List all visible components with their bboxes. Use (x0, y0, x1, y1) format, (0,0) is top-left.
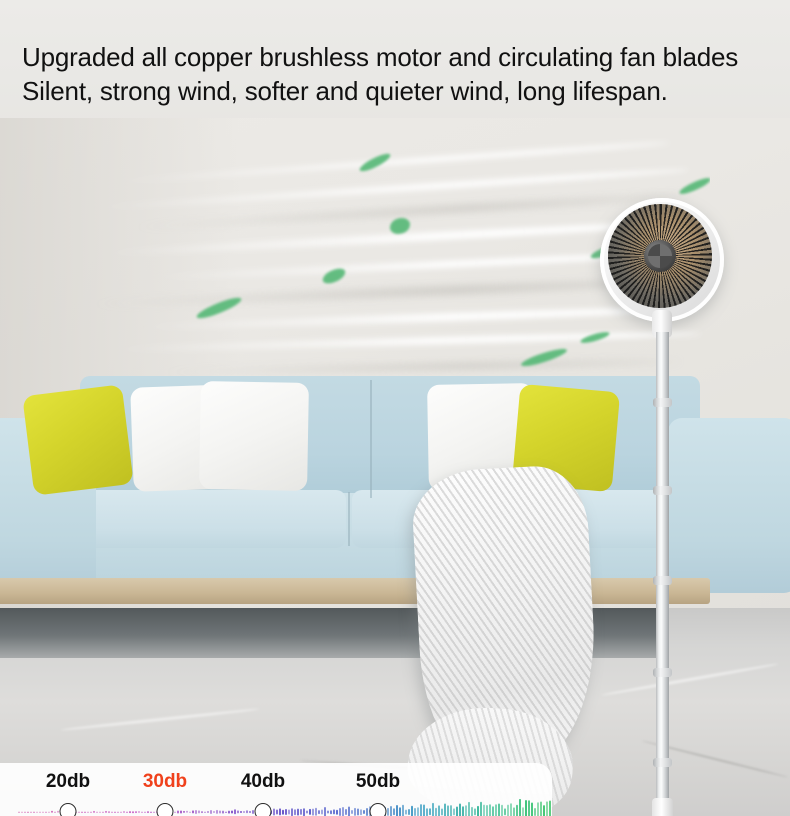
waveform-bar (492, 807, 494, 816)
waveform-bar (516, 804, 518, 816)
pole-joint (653, 398, 672, 407)
waveform-bar (540, 802, 542, 816)
waveform-bar (243, 811, 245, 813)
waveform-bar (186, 811, 188, 813)
waveform-bar (93, 811, 95, 813)
waveform-bar (330, 810, 332, 814)
waveform-bar (480, 802, 482, 816)
waveform-bar (231, 811, 233, 814)
waveform-bar (402, 805, 404, 816)
waveform-bar (87, 811, 89, 812)
waveform-bar (246, 811, 248, 814)
waveform-bar (177, 811, 179, 814)
waveform-bar (354, 808, 356, 816)
waveform-bar (282, 809, 284, 814)
waveform-bar (225, 811, 227, 813)
waveform-bar (318, 810, 320, 814)
waveform-bar (441, 809, 443, 816)
waveform-bar (411, 806, 413, 816)
waveform-bar (99, 811, 101, 812)
pole-foot (652, 798, 673, 816)
product-marketing-image: Upgraded all copper brushless motor and … (0, 0, 790, 816)
waveform-bar (33, 811, 35, 812)
waveform-bar (198, 811, 200, 814)
waveform-bar (309, 809, 311, 815)
waveform-bar (522, 807, 524, 816)
waveform-bar (27, 811, 29, 812)
waveform-bar (315, 808, 317, 816)
waveform-bar (417, 808, 419, 816)
product-scene: 20db30db40db50db Falling leavesvoiceLoca… (0, 118, 790, 816)
waveform-bar (183, 811, 185, 813)
pole-joint (653, 576, 672, 585)
waveform-bar (531, 802, 533, 816)
waveform-bar (363, 810, 365, 814)
waveform-bar (129, 811, 131, 813)
waveform-bar (216, 810, 218, 814)
pole-joint (653, 668, 672, 677)
waveform-bar (468, 802, 470, 816)
waveform-bar (24, 811, 26, 812)
waveform-bar (495, 804, 497, 816)
waveform-bar (249, 811, 251, 813)
waveform-bar (477, 806, 479, 816)
waveform-bar (351, 810, 353, 814)
waveform-bar (426, 808, 428, 816)
waveform-bar (483, 804, 485, 816)
waveform-bar (303, 808, 305, 816)
waveform-marker-50db (370, 803, 387, 816)
waveform-bar (501, 804, 503, 816)
headline-line-1: Upgraded all copper brushless motor and … (22, 40, 790, 74)
waveform-bar (300, 809, 302, 815)
waveform-bar (21, 811, 23, 812)
waveform-bar (444, 804, 446, 816)
waveform-bar (537, 802, 539, 816)
waveform-bar (42, 811, 44, 812)
noise-level-panel: 20db30db40db50db Falling leavesvoiceLoca… (0, 763, 552, 816)
waveform-bar (387, 808, 389, 816)
waveform-bar (195, 810, 197, 814)
waveform-bar (327, 810, 329, 813)
pole-joint (653, 758, 672, 767)
waveform-bar (45, 811, 47, 812)
waveform-bar (222, 810, 224, 813)
waveform-bar (207, 811, 209, 813)
waveform-bar (153, 811, 155, 812)
waveform-bar (486, 805, 488, 816)
waveform-bar (507, 804, 509, 816)
waveform-bar (339, 808, 341, 816)
waveform-bar (48, 811, 50, 812)
waveform-bar (513, 808, 515, 816)
waveform-bar (90, 811, 92, 812)
waveform-bar (180, 811, 182, 814)
headline-line-2: Silent, strong wind, softer and quieter … (22, 74, 790, 108)
db-label-row: 20db30db40db50db (0, 771, 430, 797)
waveform-bar (510, 803, 512, 816)
fan-outer-band (600, 198, 724, 322)
green-leaf-icon (390, 218, 410, 234)
green-leaf-icon (678, 176, 710, 196)
waveform-bar (273, 809, 275, 816)
waveform-bar (189, 811, 191, 812)
waveform-bar (54, 811, 56, 812)
waveform-bar (39, 811, 41, 812)
waveform-bar (108, 811, 110, 813)
waveform-bar (399, 808, 401, 816)
waveform-bar (276, 810, 278, 815)
waveform-bar (321, 809, 323, 814)
db-label-20db: 20db (46, 771, 90, 793)
waveform-bar (105, 811, 107, 813)
waveform-bar (96, 811, 98, 812)
db-label-50db: 50db (356, 771, 400, 793)
waveform-bar (285, 809, 287, 815)
waveform-bar (36, 811, 38, 812)
waveform-bar (456, 806, 458, 816)
standing-fan (596, 198, 790, 816)
waveform-bar (84, 811, 86, 812)
waveform-bar (474, 809, 476, 816)
waveform-bar (393, 809, 395, 816)
waveform-marker-30db (157, 803, 174, 816)
waveform-bar (174, 811, 176, 812)
waveform-bar (102, 811, 104, 812)
waveform-bar (333, 810, 335, 815)
waveform-bar (390, 806, 392, 816)
waveform-bar (525, 800, 527, 816)
waveform-bar (357, 808, 359, 815)
waveform-marker-40db (255, 803, 272, 816)
waveform-bar (192, 811, 194, 814)
waveform-bar (408, 809, 410, 815)
waveform-bar (150, 811, 152, 812)
waveform-bar (135, 811, 137, 813)
waveform-bar (435, 807, 437, 816)
waveform-bar (117, 811, 119, 812)
waveform-bar (147, 811, 149, 813)
waveform-bar (504, 809, 506, 816)
waveform-bar (432, 803, 434, 816)
pillow-white-2 (199, 381, 309, 491)
waveform-bar (141, 811, 143, 813)
waveform-bar (240, 811, 242, 813)
waveform-bar (396, 805, 398, 816)
waveform-bar (345, 809, 347, 815)
sofa-seam (348, 492, 350, 546)
waveform-bar (534, 808, 536, 816)
waveform-bar (453, 809, 455, 816)
waveform-bar (123, 811, 125, 813)
waveform-marker-20db (60, 803, 77, 816)
waveform-bar (234, 810, 236, 815)
waveform-graphic (18, 799, 552, 816)
waveform-bar (144, 811, 146, 812)
waveform-bar (18, 811, 20, 812)
waveform-bar (519, 799, 521, 816)
waveform-bar (459, 804, 461, 816)
waveform-bar (228, 810, 230, 813)
waveform-bar (294, 809, 296, 816)
waveform-bar (423, 805, 425, 816)
waveform-bar (204, 811, 206, 813)
waveform-bar (465, 806, 467, 816)
waveform-bar (297, 808, 299, 815)
waveform-bar (111, 811, 113, 812)
waveform-bar (543, 805, 545, 816)
waveform-bar (288, 810, 290, 815)
waveform-bar (132, 811, 134, 814)
waveform-bar (348, 807, 350, 816)
waveform-bar (219, 811, 221, 814)
pillow-yellow-left (22, 384, 133, 495)
waveform-bar (549, 801, 551, 816)
db-label-40db: 40db (241, 771, 285, 793)
waveform-bar (51, 811, 53, 813)
waveform-bar (306, 811, 308, 814)
waveform-bar (420, 804, 422, 816)
waveform-bar (462, 806, 464, 816)
waveform-bar (114, 811, 116, 812)
waveform-bar (342, 807, 344, 816)
waveform-bar (312, 808, 314, 815)
waveform-bar (213, 811, 215, 813)
pole-joint (653, 486, 672, 495)
waveform-bar (30, 811, 32, 812)
waveform-bar (81, 811, 83, 812)
waveform-bar (210, 810, 212, 814)
waveform-bar (201, 811, 203, 813)
waveform-bar (138, 811, 140, 813)
waveform-bar (438, 806, 440, 816)
waveform-bar (324, 807, 326, 816)
waveform-bar (447, 806, 449, 816)
waveform-bar (120, 811, 122, 812)
fan-head (600, 198, 724, 322)
waveform-bar (237, 811, 239, 814)
waveform-bar (366, 808, 368, 816)
waveform-bar (405, 809, 407, 814)
waveform-bar (414, 808, 416, 816)
waveform-bar (279, 809, 281, 816)
waveform-bar (360, 809, 362, 816)
waveform-bar (291, 808, 293, 816)
headline-banner: Upgraded all copper brushless motor and … (0, 0, 790, 130)
waveform-bar (336, 809, 338, 815)
waveform-bar (546, 802, 548, 816)
db-label-30db: 30db (143, 771, 187, 793)
waveform-bar (450, 805, 452, 816)
sofa-back-seam (370, 380, 372, 498)
waveform-bar (126, 811, 128, 812)
waveform-bar (78, 811, 80, 812)
waveform-bar (471, 807, 473, 816)
waveform-bar (429, 809, 431, 816)
waveform-bar (489, 805, 491, 816)
waveform-bar (528, 800, 530, 816)
waveform-bar (498, 804, 500, 816)
